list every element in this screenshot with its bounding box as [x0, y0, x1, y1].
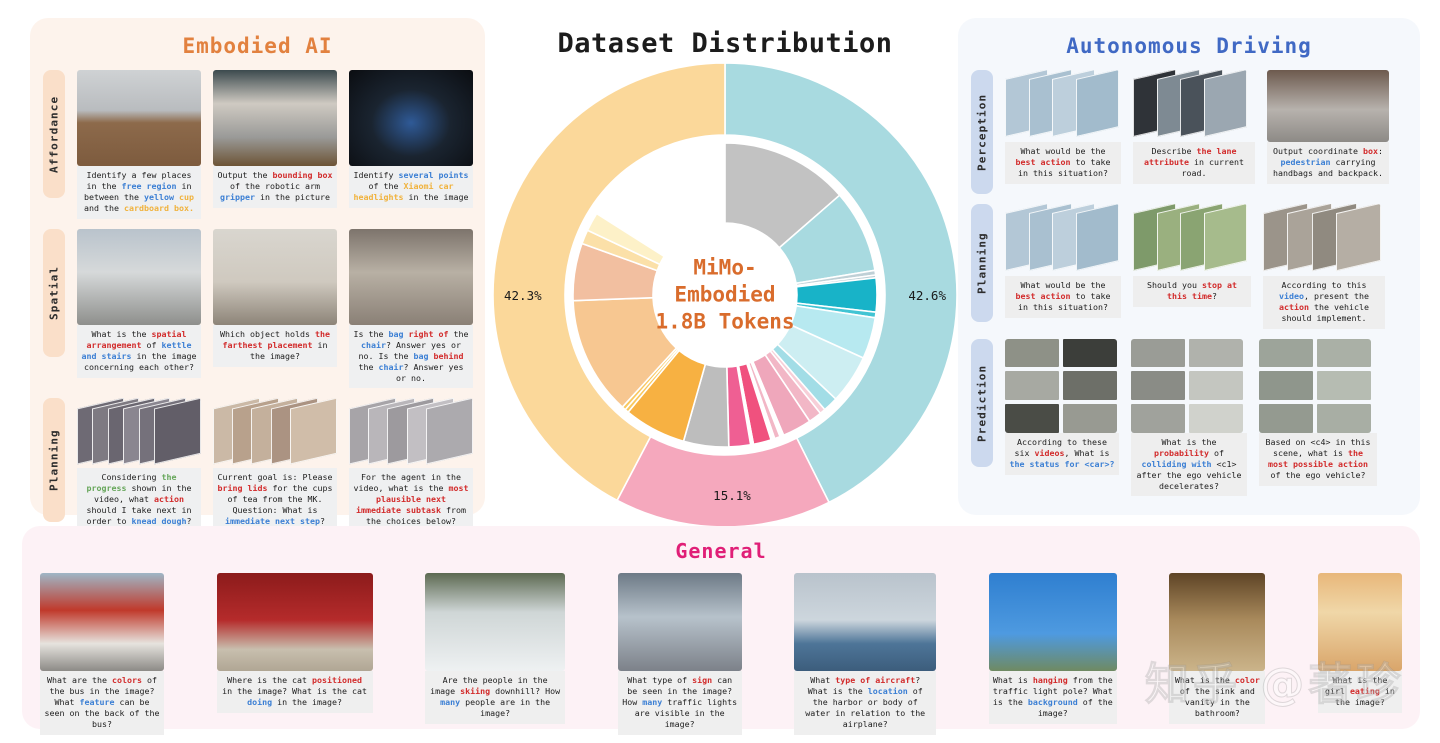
- six-frames-thumbnail: [1131, 339, 1243, 433]
- row-tab-label[interactable]: Planning: [43, 398, 65, 522]
- card-thumbnail: [349, 229, 473, 325]
- card-caption: Identify a few places in the free region…: [77, 166, 201, 219]
- video-frames-thumbnail: [1263, 204, 1381, 276]
- donut-center-line: MiMo-: [630, 255, 820, 282]
- example-card[interactable]: What are the colors of the bus in the im…: [40, 573, 164, 735]
- example-card[interactable]: According to this video, present the act…: [1263, 204, 1385, 329]
- example-card[interactable]: What is the probability of colliding wit…: [1131, 339, 1247, 497]
- example-card[interactable]: According to these six videos, What is t…: [1005, 339, 1119, 497]
- panel-title-general: General: [22, 539, 1420, 563]
- card-caption: According to these six videos, What is t…: [1005, 433, 1119, 475]
- example-card[interactable]: What type of aircraft? What is the locat…: [794, 573, 936, 735]
- card-thumbnail: [1318, 573, 1402, 671]
- category-row: PredictionAccording to these six videos,…: [958, 339, 1420, 497]
- video-frames-thumbnail: [77, 398, 201, 468]
- example-card[interactable]: What is hanging from the traffic light p…: [989, 573, 1117, 735]
- six-frames-thumbnail: [1259, 339, 1371, 433]
- card-caption: Are the people in the image skiing downh…: [425, 671, 565, 724]
- card-caption: What type of aircraft? What is the locat…: [794, 671, 936, 735]
- card-caption: Current goal is: Please bring lids for t…: [213, 468, 337, 532]
- card-caption: Based on <c4> in this scene, what is the…: [1259, 433, 1377, 486]
- card-thumbnail: [217, 573, 373, 671]
- card-caption: What is hanging from the traffic light p…: [989, 671, 1117, 724]
- six-frames-thumbnail: [1005, 339, 1117, 433]
- embodied-rows: AffordanceIdentify a few places in the f…: [30, 70, 485, 532]
- example-card[interactable]: Is the bag right of the chair? Answer ye…: [349, 229, 473, 389]
- dataset-distribution-donut: 42.6%42.3%15.1% MiMo-Embodied1.8B Tokens: [488, 58, 962, 532]
- panel-title-autonomous-driving: Autonomous Driving: [958, 34, 1420, 58]
- card-caption: Where is the cat positioned in the image…: [217, 671, 373, 713]
- card-caption: What is the spatial arrangement of kettl…: [77, 325, 201, 378]
- example-card[interactable]: What is the spatial arrangement of kettl…: [77, 229, 201, 389]
- example-card[interactable]: Describe the lane attribute in current r…: [1133, 70, 1255, 184]
- example-card[interactable]: Are the people in the image skiing downh…: [425, 573, 565, 735]
- card-caption: Describe the lane attribute in current r…: [1133, 142, 1255, 184]
- video-frames-thumbnail: [1005, 204, 1119, 276]
- donut-pct-left: 42.3%: [504, 288, 542, 303]
- video-frames-thumbnail: [1133, 70, 1247, 142]
- category-row: SpatialWhat is the spatial arrangement o…: [30, 229, 485, 389]
- card-thumbnail: [213, 229, 337, 325]
- example-card[interactable]: Based on <c4> in this scene, what is the…: [1259, 339, 1377, 497]
- example-card[interactable]: Considering the progress shown in the vi…: [77, 398, 201, 532]
- category-row: PlanningWhat would be the best action to…: [958, 204, 1420, 329]
- example-card[interactable]: Should you stop at this time?: [1133, 204, 1251, 329]
- card-caption: According to this video, present the act…: [1263, 276, 1385, 329]
- card-caption: What type of sign can be seen in the ima…: [618, 671, 742, 735]
- donut-center-line: 1.8B Tokens: [630, 308, 820, 335]
- donut-outer-slice[interactable]: [617, 437, 829, 527]
- video-frames-thumbnail: [349, 398, 473, 468]
- general-cards: What are the colors of the bus in the im…: [22, 573, 1420, 735]
- chart-title: Dataset Distribution: [490, 28, 960, 59]
- example-card[interactable]: Identify several points of the Xiaomi ca…: [349, 70, 473, 219]
- example-card[interactable]: What would be the best action to take in…: [1005, 204, 1121, 329]
- panel-title-embodied-ai: Embodied AI: [30, 34, 485, 58]
- card-thumbnail: [40, 573, 164, 671]
- card-thumbnail: [77, 70, 201, 166]
- example-card[interactable]: What would be the best action to take in…: [1005, 70, 1121, 184]
- donut-center-label: MiMo-Embodied1.8B Tokens: [630, 255, 820, 336]
- row-tab-label[interactable]: Spatial: [43, 229, 65, 357]
- card-thumbnail: [1267, 70, 1389, 142]
- card-caption: Output coordinate box: pedestrian carryi…: [1267, 142, 1389, 184]
- card-caption: What would be the best action to take in…: [1005, 276, 1121, 318]
- category-row: PerceptionWhat would be the best action …: [958, 70, 1420, 194]
- row-tab-label[interactable]: Perception: [971, 70, 993, 194]
- card-thumbnail: [618, 573, 742, 671]
- card-caption: Which object holds the farthest placemen…: [213, 325, 337, 367]
- card-thumbnail: [77, 229, 201, 325]
- card-caption: For the agent in the video, what is the …: [349, 468, 473, 532]
- card-caption: Identify several points of the Xiaomi ca…: [349, 166, 473, 208]
- card-thumbnail: [213, 70, 337, 166]
- category-row: AffordanceIdentify a few places in the f…: [30, 70, 485, 219]
- infographic-page: Embodied AI AffordanceIdentify a few pla…: [0, 0, 1440, 743]
- donut-pct-right: 42.6%: [908, 288, 946, 303]
- video-frames-thumbnail: [1133, 204, 1247, 276]
- example-card[interactable]: For the agent in the video, what is the …: [349, 398, 473, 532]
- video-frames-thumbnail: [1005, 70, 1119, 142]
- card-caption: What is the girl eating in the image?: [1318, 671, 1402, 713]
- card-caption: What is the probability of colliding wit…: [1131, 433, 1247, 497]
- panel-general: General What are the colors of the bus i…: [22, 526, 1420, 729]
- category-row: PlanningConsidering the progress shown i…: [30, 398, 485, 532]
- example-card[interactable]: Output coordinate box: pedestrian carryi…: [1267, 70, 1389, 184]
- donut-pct-bottom: 15.1%: [713, 488, 751, 503]
- row-tab-label[interactable]: Planning: [971, 204, 993, 322]
- card-caption: What are the colors of the bus in the im…: [40, 671, 164, 735]
- example-card[interactable]: Where is the cat positioned in the image…: [217, 573, 373, 735]
- card-thumbnail: [794, 573, 936, 671]
- card-caption: Is the bag right of the chair? Answer ye…: [349, 325, 473, 389]
- row-tab-label[interactable]: Prediction: [971, 339, 993, 467]
- card-thumbnail: [1169, 573, 1265, 671]
- card-caption: What would be the best action to take in…: [1005, 142, 1121, 184]
- card-thumbnail: [989, 573, 1117, 671]
- driving-rows: PerceptionWhat would be the best action …: [958, 70, 1420, 496]
- panel-autonomous-driving: Autonomous Driving PerceptionWhat would …: [958, 18, 1420, 515]
- video-frames-thumbnail: [213, 398, 337, 468]
- card-thumbnail: [349, 70, 473, 166]
- example-card[interactable]: Identify a few places in the free region…: [77, 70, 201, 219]
- card-caption: What is the color of the sink and vanity…: [1169, 671, 1265, 724]
- example-card[interactable]: Current goal is: Please bring lids for t…: [213, 398, 337, 532]
- card-caption: Should you stop at this time?: [1133, 276, 1251, 307]
- row-tab-label[interactable]: Affordance: [43, 70, 65, 198]
- example-card[interactable]: What is the color of the sink and vanity…: [1169, 573, 1265, 735]
- example-card[interactable]: Output the bounding box of the robotic a…: [213, 70, 337, 219]
- example-card[interactable]: Which object holds the farthest placemen…: [213, 229, 337, 389]
- card-thumbnail: [425, 573, 565, 671]
- card-caption: Considering the progress shown in the vi…: [77, 468, 201, 532]
- donut-center-line: Embodied: [630, 282, 820, 309]
- card-caption: Output the bounding box of the robotic a…: [213, 166, 337, 208]
- panel-embodied-ai: Embodied AI AffordanceIdentify a few pla…: [30, 18, 485, 515]
- example-card[interactable]: What is the girl eating in the image?: [1318, 573, 1402, 735]
- example-card[interactable]: What type of sign can be seen in the ima…: [618, 573, 742, 735]
